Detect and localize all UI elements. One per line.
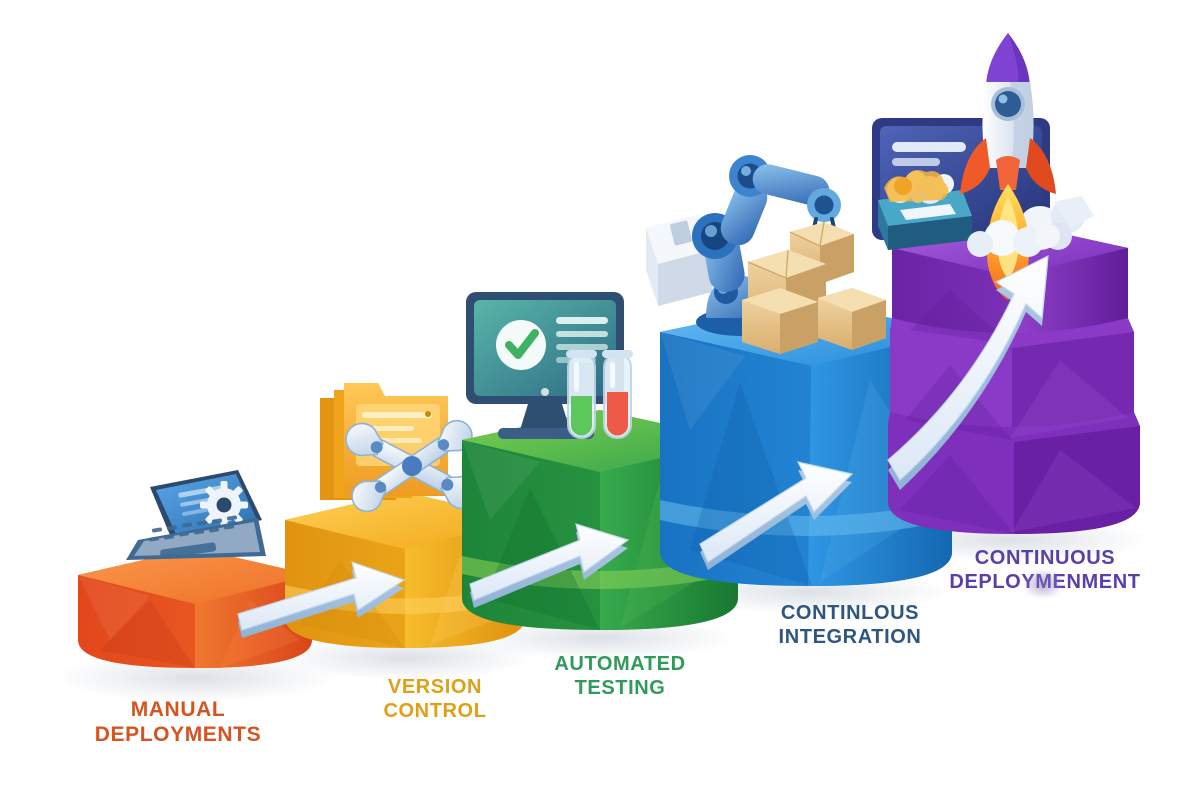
- test-tube-green-icon[interactable]: [566, 350, 597, 438]
- checkmark-icon: [496, 320, 546, 370]
- laptop-icon[interactable]: [126, 470, 266, 560]
- stage-label-continuous-deployment: CONTINUOUS DEPLOYMENMENT: [905, 547, 1185, 594]
- stage-label-manual-deployments: MANUAL DEPLOYMENTS: [28, 698, 328, 748]
- test-tube-red-icon[interactable]: [602, 350, 633, 438]
- cardboard-box-icon: [742, 222, 886, 354]
- stage-label-continuous-integration: CONTINLOUS INTEGRATION: [725, 602, 975, 649]
- infographic-canvas: MANUAL DEPLOYMENTS VERSION CONTROL AUTOM…: [0, 0, 1200, 800]
- stage-label-automated-testing: AUTOMATED TESTING: [495, 653, 745, 700]
